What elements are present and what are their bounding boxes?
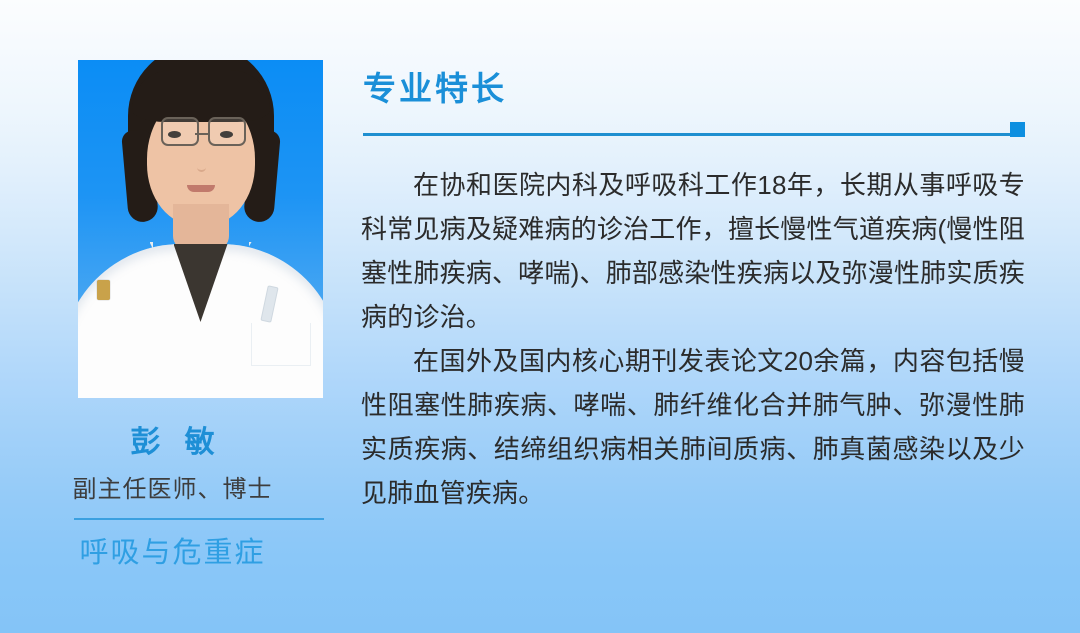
doctor-department: 呼吸与危重症 bbox=[0, 536, 345, 571]
portrait-pen bbox=[260, 285, 278, 323]
doctor-name: 彭 敏 bbox=[0, 428, 345, 458]
portrait-badge bbox=[97, 280, 110, 300]
portrait-pocket bbox=[251, 323, 311, 366]
expertise-panel: 专业特长 在协和医院内科及呼吸科工作18年，长期从事呼吸专科常见病及疑难病的诊治… bbox=[345, 0, 1080, 633]
portrait-mouth bbox=[187, 185, 215, 192]
portrait-glasses-bridge bbox=[195, 133, 208, 135]
doctor-profile-card: 彭 敏 副主任医师、博士 呼吸与危重症 专业特长 在协和医院内科及呼吸科工作18… bbox=[0, 0, 1080, 633]
heading-rule bbox=[363, 126, 1025, 142]
profile-divider bbox=[74, 518, 324, 520]
heading-rule-line bbox=[363, 133, 1025, 136]
portrait-fringe bbox=[132, 70, 270, 122]
portrait-glasses-left bbox=[161, 117, 199, 146]
expertise-paragraph: 在国外及国内核心期刊发表论文20余篇，内容包括慢性阻塞性肺疾病、哮喘、肺纤维化合… bbox=[361, 339, 1025, 515]
section-heading: 专业特长 bbox=[363, 72, 507, 105]
expertise-body: 在协和医院内科及呼吸科工作18年，长期从事呼吸专科常见病及疑难病的诊治工作，擅长… bbox=[361, 163, 1025, 515]
doctor-title: 副主任医师、博士 bbox=[0, 478, 345, 502]
portrait-nose bbox=[197, 162, 206, 172]
profile-panel: 彭 敏 副主任医师、博士 呼吸与危重症 bbox=[0, 0, 345, 633]
heading-rule-square-marker bbox=[1010, 122, 1025, 137]
portrait-white-coat bbox=[78, 244, 323, 398]
expertise-paragraph: 在协和医院内科及呼吸科工作18年，长期从事呼吸专科常见病及疑难病的诊治工作，擅长… bbox=[361, 163, 1025, 339]
portrait-glasses-right bbox=[208, 117, 246, 146]
doctor-photo bbox=[78, 60, 323, 398]
